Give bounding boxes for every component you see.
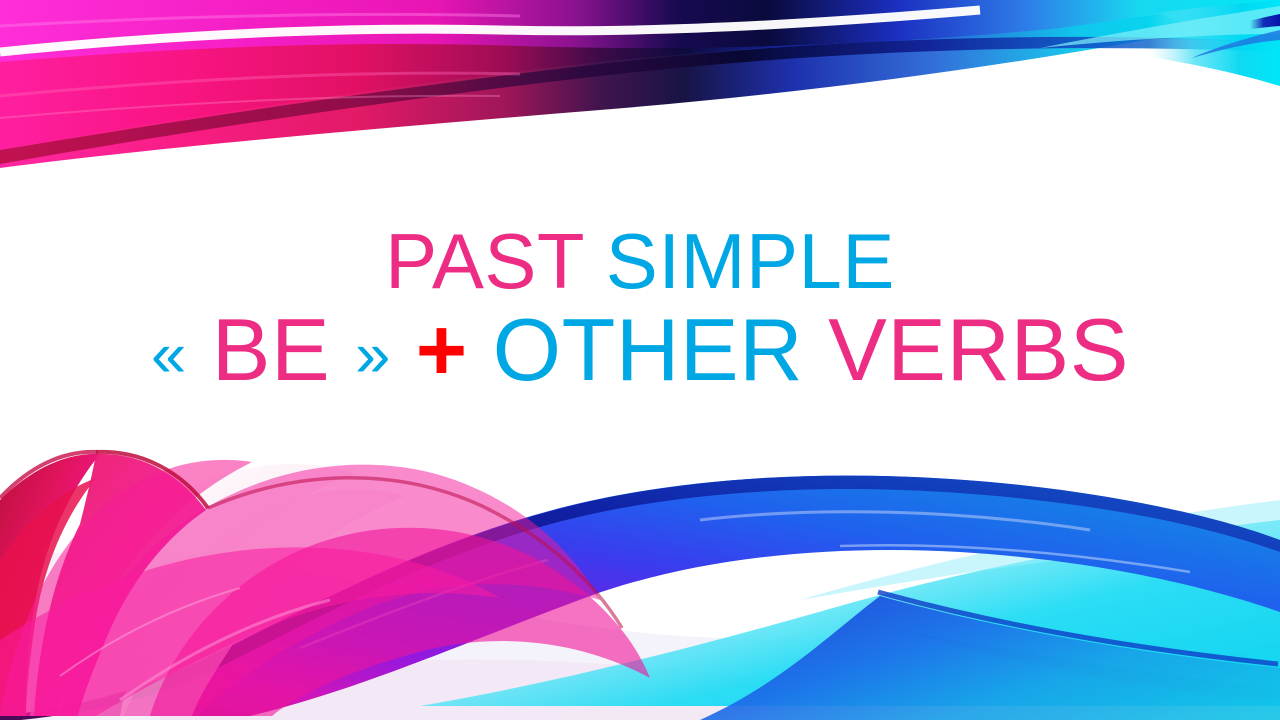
title-word-simple: SIMPLE	[606, 217, 895, 305]
guillemet-close-icon: »	[355, 320, 391, 390]
title-word-verbs: VERBS	[828, 300, 1129, 399]
title-line-1: PAST SIMPLE	[0, 222, 1280, 300]
title-word-other: OTHER	[493, 300, 804, 399]
title-space	[187, 300, 212, 399]
title-space	[391, 300, 416, 399]
slide-title: PAST SIMPLE « BE » + OTHER VERBS	[0, 222, 1280, 394]
title-slide: PAST SIMPLE « BE » + OTHER VERBS	[0, 0, 1280, 720]
title-space	[330, 300, 355, 399]
title-space	[803, 300, 828, 399]
title-word-be: BE	[212, 300, 330, 399]
plus-sign-icon: +	[416, 300, 468, 399]
title-word-past: PAST	[385, 217, 584, 305]
guillemet-open-icon: «	[151, 320, 187, 390]
title-line-2: « BE » + OTHER VERBS	[0, 306, 1280, 394]
title-space	[468, 300, 493, 399]
title-space	[584, 217, 606, 305]
